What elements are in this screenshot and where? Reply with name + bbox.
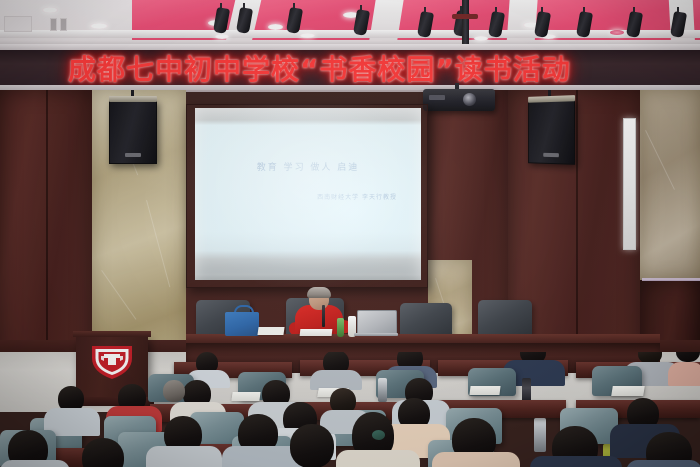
ceiling-vent-slat [60, 18, 67, 31]
downlight [215, 34, 229, 39]
green-bottle [337, 318, 344, 337]
ceiling-projector [423, 89, 495, 111]
downlight [42, 7, 58, 13]
banner-text: 成都七中初中学校“书香校园”读书活动 [68, 50, 571, 85]
thermos-bottle [534, 418, 546, 452]
audience-shoulders [530, 456, 622, 467]
ceiling [0, 0, 700, 46]
led-banner: 成都七中初中学校“书香校园”读书活动 [0, 44, 700, 92]
hair-tie [372, 430, 385, 440]
lecture-hall-photo: 成都七中初中学校“书香校园”读书活动 [0, 0, 700, 467]
wall-speaker-left [109, 100, 157, 164]
laptop-lid [357, 310, 397, 335]
audience-area [0, 352, 700, 467]
speaker-bracket [528, 95, 575, 103]
audience-shoulders [668, 362, 700, 386]
lectern-top [73, 331, 151, 337]
presenter-hair [307, 287, 331, 298]
notebook [231, 392, 260, 401]
audience-shoulders [310, 370, 362, 390]
marble-column-right [640, 90, 700, 280]
banner-panel: 成都七中初中学校“书香校园”读书活动 [0, 50, 700, 85]
downlight [300, 33, 315, 38]
slide-title: 教育 学习 做人 启迪 [195, 160, 421, 173]
downlight [474, 36, 488, 41]
wall-speaker-right [528, 99, 575, 165]
audience-head [82, 438, 124, 467]
audience-head [676, 352, 700, 362]
audience-head [290, 424, 334, 467]
ceiling-vent [4, 16, 32, 32]
paper-stack [300, 329, 333, 336]
speaker-badge [543, 153, 559, 157]
audience-shoulders [432, 452, 520, 467]
ceiling-vent-slat [50, 18, 57, 31]
notebook [469, 386, 500, 395]
blue-tote-bag [225, 312, 259, 336]
macbook-laptop [356, 310, 396, 336]
downlight [268, 24, 283, 30]
audience-shoulders [336, 450, 420, 467]
speaker-badge [125, 153, 141, 157]
speaker-bracket [109, 96, 157, 102]
audience-head [163, 380, 185, 402]
projection-screen-surface: 教育 学习 做人 启迪 西南财经大学 李天行教授 [195, 108, 421, 280]
stage-chair [478, 300, 532, 338]
projector-lens [463, 93, 476, 106]
audience-shoulders [146, 446, 222, 467]
microphone-icon [322, 305, 325, 327]
paper-stack [257, 327, 284, 335]
audience-shoulders [626, 460, 700, 467]
audience-shoulders [0, 460, 70, 467]
thermos-bottle [378, 378, 387, 402]
pole-bracket [452, 14, 478, 19]
wood-seam [46, 90, 48, 380]
ceiling-rail [0, 30, 700, 38]
apple-logo-icon [374, 319, 381, 327]
slide-subtitle: 西南财经大学 李天行教授 [317, 192, 397, 201]
laptop-base [354, 333, 398, 336]
downlight [610, 30, 624, 35]
vertical-light-strip [623, 118, 636, 250]
projection-screen: 教育 学习 做人 启迪 西南财经大学 李天行教授 [186, 104, 428, 288]
projector-vent [429, 95, 445, 100]
downlight [90, 23, 108, 29]
ceiling-support-pole [462, 0, 469, 46]
notebook [611, 386, 645, 396]
wall-accent-light [642, 278, 700, 281]
